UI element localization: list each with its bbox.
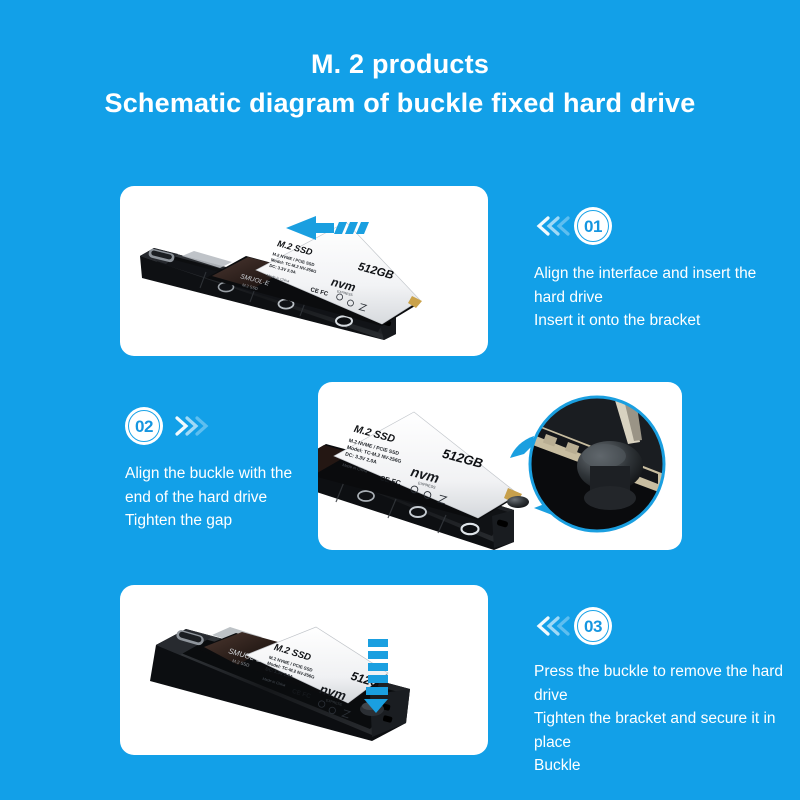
photo-align-buckle: M.2 SSD M.2 NVME / PCIE SSD Model: TC-M.…: [318, 382, 682, 550]
photo-card-step-1: SMUOL·E M.2 SSD M.2 SSD M.2 NVME / PCIE …: [120, 186, 488, 356]
photo-card-step-2: M.2 SSD M.2 NVME / PCIE SSD Model: TC-M.…: [318, 382, 682, 550]
magnifier-callout-circle: [510, 397, 664, 531]
page-title-line1: M. 2 products: [0, 48, 800, 82]
retaining-buckle-knob: [507, 496, 529, 508]
step-1-number: 01: [584, 218, 602, 235]
photo-card-step-3: SMUOL·E M.2 SSD M.2 SSD M.2 NVME / PCIE …: [120, 585, 488, 755]
photo-press-buckle: SMUOL·E M.2 SSD M.2 SSD M.2 NVME / PCIE …: [120, 585, 488, 755]
step-1: 01 Align the interface and insert the ha…: [534, 206, 792, 333]
step-3-description: Press the buckle to remove the hard driv…: [534, 660, 796, 778]
step-2-header: 02: [125, 406, 355, 446]
chevron-double-left-icon: [534, 613, 574, 639]
step-1-header: 01: [534, 206, 792, 246]
step-3: 03 Press the buckle to remove the hard d…: [534, 606, 796, 778]
step-2-badge: 02: [125, 407, 163, 445]
step-1-description: Align the interface and insert the hard …: [534, 262, 792, 333]
chevron-double-right-icon: [171, 413, 211, 439]
step-2: 02 Align the buckle with the end of the …: [125, 406, 355, 533]
step-2-number: 02: [135, 418, 153, 435]
photo-insert-drive: SMUOL·E M.2 SSD M.2 SSD M.2 NVME / PCIE …: [120, 186, 488, 356]
step-3-header: 03: [534, 606, 796, 646]
step-3-badge: 03: [574, 607, 612, 645]
step-2-description: Align the buckle with the end of the har…: [125, 462, 355, 533]
chevron-double-left-icon: [534, 213, 574, 239]
page-title-line2: Schematic diagram of buckle fixed hard d…: [0, 86, 800, 121]
step-3-number: 03: [584, 618, 602, 635]
page-title: M. 2 products Schematic diagram of buckl…: [0, 48, 800, 121]
step-1-badge: 01: [574, 207, 612, 245]
